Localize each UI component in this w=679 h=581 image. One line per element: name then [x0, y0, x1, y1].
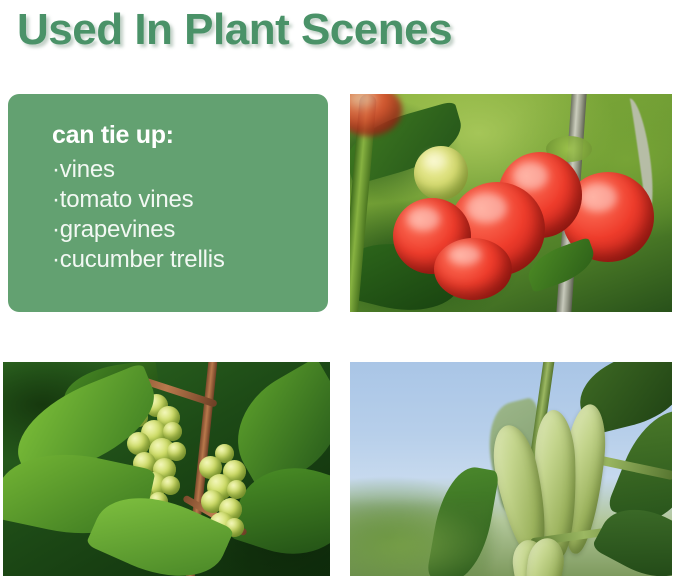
info-panel-heading: can tie up: [52, 120, 310, 150]
grape-berry [161, 476, 180, 495]
photo-cell-tomato [350, 94, 672, 312]
grapevine-photo [3, 362, 330, 576]
info-item-tomato-vines: ·tomato vines [52, 185, 310, 215]
tomato-vine-photo [350, 94, 672, 312]
info-item-cucumber-trellis: ·cucumber trellis [52, 245, 310, 275]
info-item-vines: ·vines [52, 155, 310, 185]
unripe-tomato-fruit [414, 146, 468, 200]
tomato-fruit [434, 238, 512, 300]
info-item-grapevines: ·grapevines [52, 215, 310, 245]
soybean-pods-photo [350, 362, 672, 576]
photo-cell-soy [350, 362, 672, 576]
grape-berry [227, 480, 246, 499]
soy-foreground-blur [350, 502, 490, 576]
info-panel-cell: can tie up: ·vines ·tomato vines ·grapev… [8, 94, 328, 312]
grape-berry [167, 442, 186, 461]
content-grid: can tie up: ·vines ·tomato vines ·grapev… [0, 0, 679, 581]
can-tie-up-panel: can tie up: ·vines ·tomato vines ·grapev… [8, 94, 328, 312]
photo-cell-grape [3, 362, 330, 576]
